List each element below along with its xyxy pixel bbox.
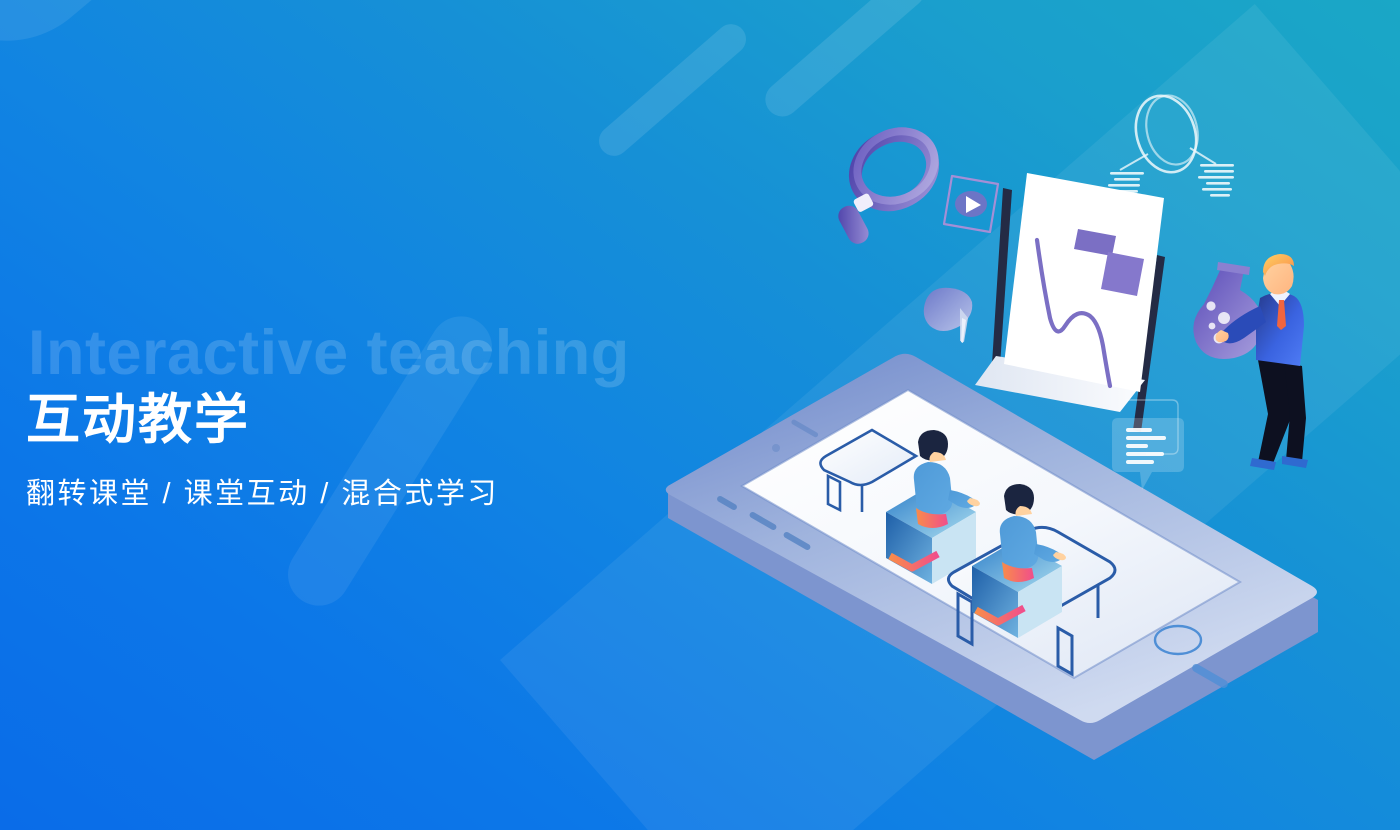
magnifier-icon	[835, 118, 947, 247]
page-title: 互动教学	[26, 389, 746, 451]
tablet-device[interactable]	[666, 354, 1320, 760]
page-subtitle: 翻转课堂 / 课堂互动 / 混合式学习	[26, 477, 746, 512]
video-play-icon	[944, 176, 998, 232]
whiteboard	[975, 173, 1165, 432]
chat-bubble-icon	[1112, 400, 1184, 490]
copy-block: Interactive teaching 互动教学 翻转课堂 / 课堂互动 / …	[26, 322, 746, 512]
ghost-title: Interactive teaching	[28, 322, 746, 385]
graduation-cap-icon	[924, 288, 973, 343]
idea-loop-icon	[1108, 88, 1234, 199]
promo-banner: Interactive teaching 互动教学 翻转课堂 / 课堂互动 / …	[0, 0, 1400, 830]
